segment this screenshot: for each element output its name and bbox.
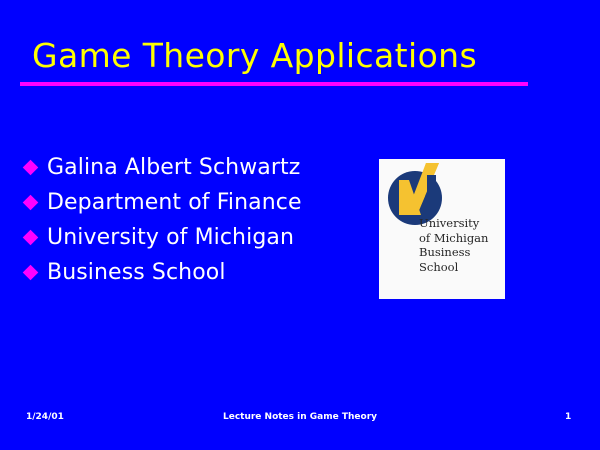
list-item-label: Department of Finance [47,190,302,215]
list-item: Galina Albert Schwartz [24,150,364,185]
page-title: Game Theory Applications [20,34,530,78]
logo-line: of Michigan [419,231,505,246]
slide: Game Theory Applications Galina Albert S… [0,0,600,450]
diamond-bullet-icon [23,230,39,246]
list-item: Department of Finance [24,185,364,220]
list-item: Business School [24,255,364,290]
bullet-list: Galina Albert Schwartz Department of Fin… [24,150,364,290]
logo-plate: University of Michigan Business School [379,159,505,299]
logo-line: School [419,260,505,275]
logo-wordmark: University of Michigan Business School [419,216,505,274]
list-item: University of Michigan [24,220,364,255]
diamond-bullet-icon [23,265,39,281]
logo-line: University [419,216,505,231]
logo-line: Business [419,245,505,260]
footer-page-number: 1 [565,412,571,422]
title-block: Game Theory Applications [20,34,530,86]
list-item-label: University of Michigan [47,225,294,250]
title-underline-rule [20,82,528,86]
footer-title: Lecture Notes in Game Theory [0,412,600,422]
list-item-label: Galina Albert Schwartz [47,155,300,180]
list-item-label: Business School [47,260,226,285]
diamond-bullet-icon [23,195,39,211]
slide-footer: 1/24/01 Lecture Notes in Game Theory 1 [0,412,600,430]
diamond-bullet-icon [23,160,39,176]
